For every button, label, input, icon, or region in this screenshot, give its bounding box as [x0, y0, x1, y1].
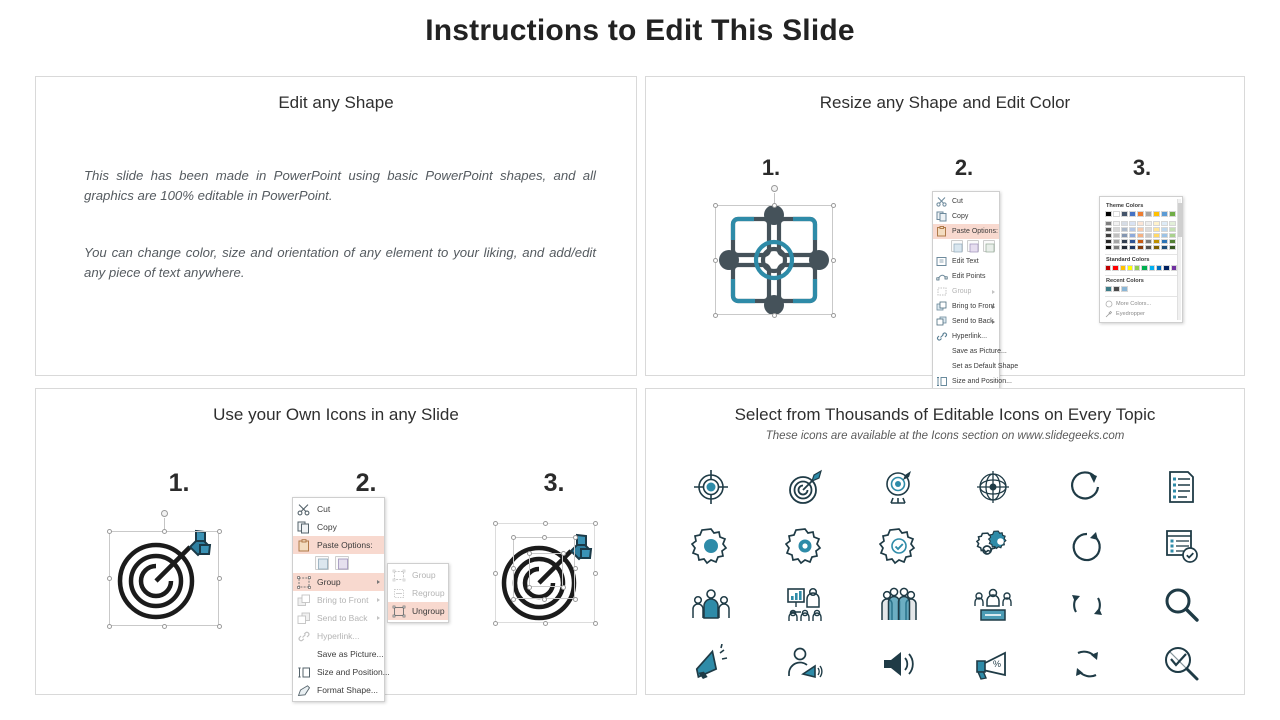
context-menu-resize[interactable]: Cut Copy Paste Options: [932, 191, 1000, 407]
ungrouped-icon-graphic[interactable] [483, 517, 605, 635]
gear-solid-icon[interactable] [689, 524, 733, 568]
panel-title-edit-shape: Edit any Shape [36, 93, 636, 113]
gear-check-icon[interactable] [877, 524, 921, 568]
rotation-handle[interactable] [771, 185, 778, 192]
color-swatch[interactable] [1105, 239, 1112, 244]
context-menu-item[interactable]: Bring to Front [293, 591, 384, 609]
context-menu-item[interactable]: Copy [293, 518, 384, 536]
theme-color-column[interactable] [1105, 211, 1112, 250]
paste-keep-text-button[interactable] [983, 240, 995, 252]
color-swatch[interactable] [1153, 233, 1160, 238]
team-leader-icon[interactable] [689, 583, 733, 627]
color-picker-panel[interactable]: Theme Colors Standard Colors Recent Colo… [1099, 196, 1183, 323]
context-menu-label: Bring to Front [317, 596, 369, 605]
person-megaphone-icon[interactable] [783, 642, 827, 686]
color-swatch[interactable] [1105, 245, 1112, 250]
megaphone-percent-icon[interactable]: % [971, 642, 1015, 686]
icon-grid: % [664, 457, 1228, 693]
theme-color-column[interactable] [1153, 211, 1160, 250]
color-swatch[interactable] [1113, 211, 1120, 217]
panel-title-resize-color: Resize any Shape and Edit Color [646, 93, 1244, 113]
checklist-document-icon[interactable] [1159, 465, 1203, 509]
rotation-handle[interactable] [161, 510, 168, 517]
color-swatch[interactable] [1153, 227, 1160, 232]
color-swatch[interactable] [1113, 227, 1120, 232]
slide-canvas: Instructions to Edit This Slide Edit any… [0, 0, 1280, 720]
submenu-label: Regroup [412, 589, 445, 598]
document-check-icon[interactable] [1159, 524, 1203, 568]
submenu-label: Group [412, 571, 436, 580]
chevron-right-icon [992, 290, 995, 294]
gear-circle-icon[interactable] [783, 524, 827, 568]
panel-title-own-icons: Use your Own Icons in any Slide [36, 405, 636, 425]
color-swatch[interactable] [1169, 245, 1176, 250]
color-swatch[interactable] [1105, 227, 1112, 232]
paste-keep-formatting-button[interactable] [951, 240, 963, 252]
color-swatch[interactable] [1113, 233, 1120, 238]
step-number-bl-3: 3. [524, 469, 584, 498]
panel-resize-edit-color: Resize any Shape and Edit Color 1. 2. 3. [645, 76, 1245, 376]
color-swatch[interactable] [1113, 286, 1120, 292]
context-menu-label: Edit Text [952, 258, 979, 265]
context-menu-label: Bring to Front [952, 303, 994, 310]
scissors-icon [936, 196, 948, 207]
color-swatch[interactable] [1141, 265, 1147, 271]
two-way-arrows-icon[interactable] [1065, 583, 1109, 627]
chevron-right-icon [377, 616, 380, 620]
submenu-item-ungroup[interactable]: Ungroup [388, 602, 448, 620]
paste-icon [297, 539, 311, 552]
context-menu-item[interactable]: Send to Back [293, 609, 384, 627]
context-menu-label: Paste Options: [317, 541, 373, 550]
context-menu-label: Copy [317, 523, 337, 532]
color-swatch[interactable] [1121, 221, 1128, 226]
group-icon [936, 286, 948, 297]
scissors-icon [297, 503, 311, 516]
paste-options-row[interactable] [293, 554, 384, 573]
color-swatch[interactable] [1105, 286, 1112, 292]
svg-text:%: % [993, 659, 1001, 669]
paste-keep-formatting-button[interactable] [315, 556, 329, 570]
color-swatch[interactable] [1120, 265, 1126, 271]
submenu-item-group[interactable]: Group [388, 566, 448, 584]
standard-colors-label: Standard Colors [1106, 257, 1177, 263]
bring-front-icon [297, 594, 311, 607]
context-menu-item[interactable]: Save as Picture... [933, 344, 999, 359]
edit-points-icon [936, 271, 948, 282]
magnifier-check-icon[interactable] [1159, 642, 1203, 686]
speaker-loud-icon[interactable] [877, 642, 921, 686]
color-swatch[interactable] [1153, 211, 1160, 217]
color-swatch[interactable] [1169, 233, 1176, 238]
color-swatch[interactable] [1153, 239, 1160, 244]
context-menu-label: Cut [952, 198, 963, 205]
context-menu-label: Save as Picture... [317, 650, 384, 659]
color-swatch[interactable] [1161, 233, 1168, 238]
step-number-bl-2: 2. [336, 469, 396, 498]
blank-icon [936, 346, 948, 357]
color-swatch[interactable] [1161, 227, 1168, 232]
color-swatch[interactable] [1169, 221, 1176, 226]
color-swatch[interactable] [1137, 239, 1144, 244]
color-swatch[interactable] [1137, 245, 1144, 250]
context-menu-label: Format Shape... [317, 686, 378, 695]
magnifier-icon[interactable] [1159, 583, 1203, 627]
context-menu-label: Group [317, 578, 341, 587]
context-menu-item[interactable]: Size and Position... [293, 663, 384, 681]
color-swatch[interactable] [1121, 286, 1128, 292]
context-menu-label: Size and Position... [952, 378, 1012, 385]
refresh-arrow-icon[interactable] [1065, 465, 1109, 509]
circular-refresh-icon[interactable] [1065, 524, 1109, 568]
color-swatch[interactable] [1145, 233, 1152, 238]
ungroup-icon [392, 605, 406, 618]
context-menu-item[interactable]: Cut [293, 500, 384, 518]
color-swatch[interactable] [1105, 265, 1111, 271]
color-swatch[interactable] [1129, 221, 1136, 226]
color-swatch[interactable] [1169, 211, 1176, 217]
context-menu-label: Group [952, 288, 971, 295]
panel-title-editable-icons: Select from Thousands of Editable Icons … [646, 405, 1244, 425]
step-number-tr-3: 3. [1112, 155, 1172, 181]
context-menu-label: Set as Default Shape [952, 363, 1018, 370]
dartboard-arrow-icon[interactable] [783, 465, 827, 509]
paste-picture-button[interactable] [967, 240, 979, 252]
color-swatch[interactable] [1169, 227, 1176, 232]
color-swatch[interactable] [1129, 233, 1136, 238]
theme-color-column[interactable] [1161, 211, 1168, 250]
color-swatch[interactable] [1145, 239, 1152, 244]
color-swatch[interactable] [1156, 265, 1162, 271]
color-swatch[interactable] [1121, 211, 1128, 217]
context-menu-item[interactable]: Hyperlink... [933, 329, 999, 344]
context-menu-item[interactable]: Set as Default Shape [933, 359, 999, 374]
send-back-icon [936, 316, 948, 327]
people-group-icon[interactable] [877, 583, 921, 627]
eyedropper-option[interactable]: Eyedropper [1105, 309, 1177, 319]
submenu-item-regroup[interactable]: Regroup [388, 584, 448, 602]
color-swatch[interactable] [1161, 245, 1168, 250]
context-menu-item-group[interactable]: Group [293, 573, 384, 591]
color-swatch[interactable] [1161, 211, 1168, 217]
panel-editable-icons: Select from Thousands of Editable Icons … [645, 388, 1245, 695]
context-menu-item[interactable]: Group [933, 284, 999, 299]
presentation-people-icon[interactable] [783, 583, 827, 627]
color-swatch[interactable] [1127, 265, 1133, 271]
submenu-label: Ungroup [412, 607, 445, 616]
context-menu-label: Copy [952, 213, 968, 220]
color-swatch[interactable] [1137, 233, 1144, 238]
context-menu-item[interactable]: Paste Options: [293, 536, 384, 554]
size-position-icon [297, 666, 311, 679]
context-menu-label: Send to Back [952, 318, 994, 325]
context-menu-item[interactable]: Send to Back [933, 314, 999, 329]
context-menu-group[interactable]: Cut Copy Paste Options: [292, 497, 385, 702]
color-swatch[interactable] [1137, 221, 1144, 226]
blank-icon [297, 648, 311, 661]
color-swatch[interactable] [1161, 221, 1168, 226]
context-menu-item[interactable]: Edit Points [933, 269, 999, 284]
color-swatch[interactable] [1113, 221, 1120, 226]
step-number-tr-1: 1. [741, 155, 801, 181]
panel-subtitle-icons-source: These icons are available at the Icons s… [646, 430, 1244, 442]
color-swatch[interactable] [1105, 233, 1112, 238]
panel-own-icons: Use your Own Icons in any Slide 1. 2. 3. [35, 388, 637, 695]
size-position-icon [936, 376, 948, 387]
recent-colors-row[interactable] [1105, 286, 1177, 292]
theme-color-column[interactable] [1113, 211, 1120, 250]
double-gear-icon[interactable] [971, 524, 1015, 568]
hyperlink-icon [936, 331, 948, 342]
regroup-icon [392, 587, 406, 600]
target-stand-icon[interactable] [877, 465, 921, 509]
megaphone-icon[interactable] [689, 642, 733, 686]
color-picker-scrollbar[interactable] [1177, 199, 1181, 320]
page-title: Instructions to Edit This Slide [0, 14, 1280, 48]
context-menu-item[interactable]: Size and Position... [933, 374, 999, 389]
chevron-right-icon [992, 305, 995, 309]
more-colors-option[interactable]: More Colors... [1105, 299, 1177, 309]
context-menu-label: Save as Picture... [952, 348, 1007, 355]
theme-colors-grid[interactable] [1105, 211, 1177, 250]
radar-target-icon[interactable] [971, 465, 1015, 509]
step-number-bl-1: 1. [149, 469, 209, 498]
color-swatch[interactable] [1121, 233, 1128, 238]
blank-icon [936, 361, 948, 372]
context-menu-label: Paste Options: [952, 228, 998, 235]
color-swatch[interactable] [1145, 211, 1152, 217]
send-back-icon [297, 612, 311, 625]
color-swatch[interactable] [1134, 265, 1140, 271]
group-icon [392, 569, 406, 582]
chevron-right-icon [377, 580, 380, 584]
color-swatch[interactable] [1121, 227, 1128, 232]
recent-colors-label: Recent Colors [1106, 278, 1177, 284]
color-swatch[interactable] [1105, 211, 1112, 217]
context-menu-label: Hyperlink... [952, 333, 987, 340]
selected-shape-graphic[interactable] [709, 195, 839, 325]
grouped-icon-graphic[interactable] [104, 519, 224, 634]
context-menu-label: Size and Position... [317, 668, 390, 677]
context-menu-item[interactable]: Bring to Front [933, 299, 999, 314]
color-swatch[interactable] [1129, 227, 1136, 232]
bring-front-icon [936, 301, 948, 312]
context-menu-item[interactable]: Format Shape... [293, 681, 384, 699]
hyperlink-icon [297, 630, 311, 643]
standard-colors-row[interactable] [1105, 265, 1177, 271]
theme-color-column[interactable] [1129, 211, 1136, 250]
crosshair-target-icon[interactable] [689, 465, 733, 509]
color-swatch[interactable] [1113, 239, 1120, 244]
color-swatch[interactable] [1121, 239, 1128, 244]
format-shape-icon [297, 684, 311, 697]
theme-color-column[interactable] [1145, 211, 1152, 250]
chevron-right-icon [377, 598, 380, 602]
color-swatch[interactable] [1161, 239, 1168, 244]
color-swatch[interactable] [1163, 265, 1169, 271]
color-swatch[interactable] [1169, 239, 1176, 244]
context-menu-label: Cut [317, 505, 330, 514]
theme-colors-label: Theme Colors [1106, 203, 1177, 209]
step-number-tr-2: 2. [934, 155, 994, 181]
panel-edit-any-shape: Edit any Shape This slide has been made … [35, 76, 637, 376]
chevron-right-icon [992, 320, 995, 324]
group-icon [297, 576, 311, 589]
body-paragraph-1: This slide has been made in PowerPoint u… [84, 166, 596, 207]
color-swatch[interactable] [1153, 245, 1160, 250]
color-swatch[interactable] [1129, 211, 1136, 217]
theme-color-column[interactable] [1121, 211, 1128, 250]
color-swatch[interactable] [1113, 245, 1120, 250]
context-menu-item[interactable]: Save as Picture... [293, 645, 384, 663]
color-swatch[interactable] [1137, 211, 1144, 217]
context-menu-item[interactable]: Edit Text [933, 254, 999, 269]
theme-color-column[interactable] [1137, 211, 1144, 250]
context-submenu-group[interactable]: Group Regroup Ungroup [387, 563, 449, 623]
color-swatch[interactable] [1137, 227, 1144, 232]
eyedropper-icon [1105, 310, 1113, 318]
paste-options-row[interactable] [933, 239, 999, 254]
team-meeting-icon[interactable] [971, 583, 1015, 627]
color-swatch[interactable] [1105, 221, 1112, 226]
context-menu-label: Send to Back [317, 614, 368, 623]
body-paragraph-2: You can change color, size and orientati… [84, 243, 596, 284]
eyedropper-label: Eyedropper [1116, 311, 1145, 317]
context-menu-item[interactable]: Hyperlink... [293, 627, 384, 645]
paste-picture-button[interactable] [335, 556, 349, 570]
color-swatch[interactable] [1153, 221, 1160, 226]
palette-icon [1105, 300, 1113, 308]
edit-text-icon [936, 256, 948, 267]
color-swatch[interactable] [1149, 265, 1155, 271]
color-swatch[interactable] [1129, 239, 1136, 244]
color-swatch[interactable] [1121, 245, 1128, 250]
color-swatch[interactable] [1145, 227, 1152, 232]
copy-icon [936, 211, 948, 222]
context-menu-label: Edit Points [952, 273, 985, 280]
context-menu-item[interactable]: Cut [933, 194, 999, 209]
copy-icon [297, 521, 311, 534]
theme-color-column[interactable] [1169, 211, 1176, 250]
cycle-arrows-icon[interactable] [1065, 642, 1109, 686]
color-swatch[interactable] [1129, 245, 1136, 250]
more-colors-label: More Colors... [1116, 301, 1151, 307]
context-menu-label: Hyperlink... [317, 632, 360, 641]
paste-icon [936, 226, 948, 237]
context-menu-item[interactable]: Paste Options: [933, 224, 999, 239]
color-swatch[interactable] [1112, 265, 1118, 271]
context-menu-item[interactable]: Copy [933, 209, 999, 224]
color-swatch[interactable] [1145, 245, 1152, 250]
color-swatch[interactable] [1145, 221, 1152, 226]
